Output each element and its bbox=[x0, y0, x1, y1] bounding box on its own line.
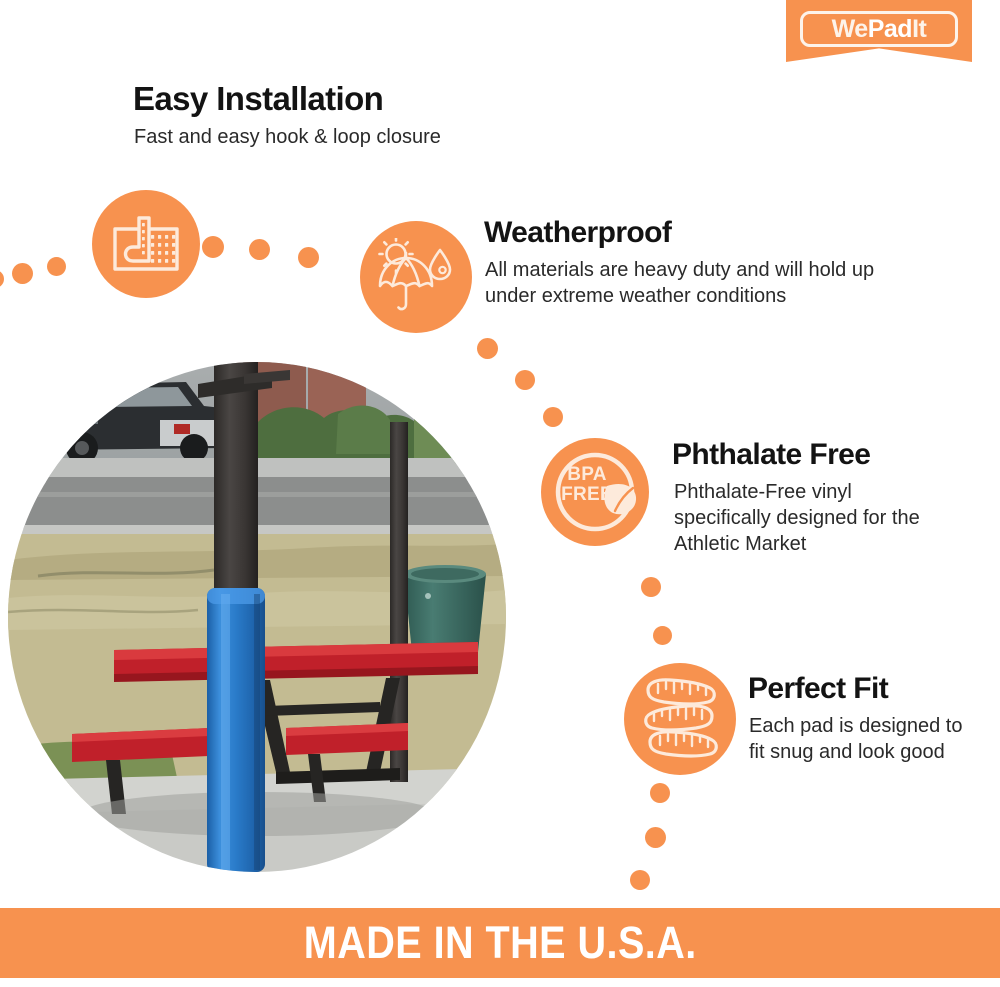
trail-dot bbox=[477, 338, 498, 359]
trail-dot bbox=[249, 239, 270, 260]
sun-umbrella-raindrop-icon bbox=[374, 238, 458, 316]
feature-description-easy-installation: Fast and easy hook & loop closure bbox=[134, 124, 554, 150]
feature-description-perfect-fit: Each pad is designed to fit snug and loo… bbox=[749, 713, 974, 765]
feature-icon-circle-weatherproof bbox=[360, 221, 472, 333]
product-photo bbox=[8, 362, 506, 872]
trail-dot bbox=[641, 577, 661, 597]
brand-logo-pad: Pad bbox=[868, 15, 912, 43]
feature-description-weatherproof: All materials are heavy duty and will ho… bbox=[485, 257, 905, 309]
feature-title-easy-installation: Easy Installation bbox=[133, 80, 383, 118]
trail-dot bbox=[645, 827, 666, 848]
made-in-usa-text: MADE IN THE U.S.A. bbox=[304, 917, 697, 969]
feature-icon-circle-easy-installation bbox=[92, 190, 200, 298]
feature-title-weatherproof: Weatherproof bbox=[484, 216, 671, 250]
trail-dot bbox=[12, 263, 33, 284]
brand-logo-text: WePadIt bbox=[832, 17, 927, 42]
brand-logo-frame: WePadIt bbox=[800, 11, 958, 47]
feature-title-phthalate-free: Phthalate Free bbox=[672, 438, 870, 472]
infographic-page: WePadIt Easy Installation Fast and easy … bbox=[0, 0, 1000, 987]
trail-dot bbox=[630, 870, 650, 890]
trail-dot bbox=[543, 407, 563, 427]
feature-description-phthalate-free: Phthalate-Free vinyl specifically design… bbox=[674, 479, 934, 557]
feature-title-perfect-fit: Perfect Fit bbox=[748, 672, 888, 706]
brand-logo-badge: WePadIt bbox=[786, 0, 972, 62]
bpa-free-icon-label-line2: FREE bbox=[541, 485, 633, 504]
trail-dot bbox=[298, 247, 319, 268]
brand-logo-it: It bbox=[912, 15, 926, 43]
trail-dot bbox=[202, 236, 224, 258]
bpa-free-leaf-icon: BPA FREE bbox=[541, 438, 649, 546]
feature-icon-circle-perfect-fit bbox=[624, 663, 736, 775]
measuring-tape-icon bbox=[638, 674, 722, 764]
trail-dot bbox=[650, 783, 670, 803]
trail-dot bbox=[653, 626, 672, 645]
bpa-free-icon-label-line1: BPA bbox=[541, 465, 633, 484]
trail-dot bbox=[515, 370, 535, 390]
trail-dot bbox=[0, 270, 4, 288]
brand-logo-we: We bbox=[832, 15, 868, 43]
made-in-usa-banner: MADE IN THE U.S.A. bbox=[0, 908, 1000, 978]
trail-dot bbox=[47, 257, 66, 276]
hook-and-loop-icon bbox=[111, 213, 181, 275]
feature-icon-circle-phthalate-free: BPA FREE bbox=[541, 438, 649, 546]
